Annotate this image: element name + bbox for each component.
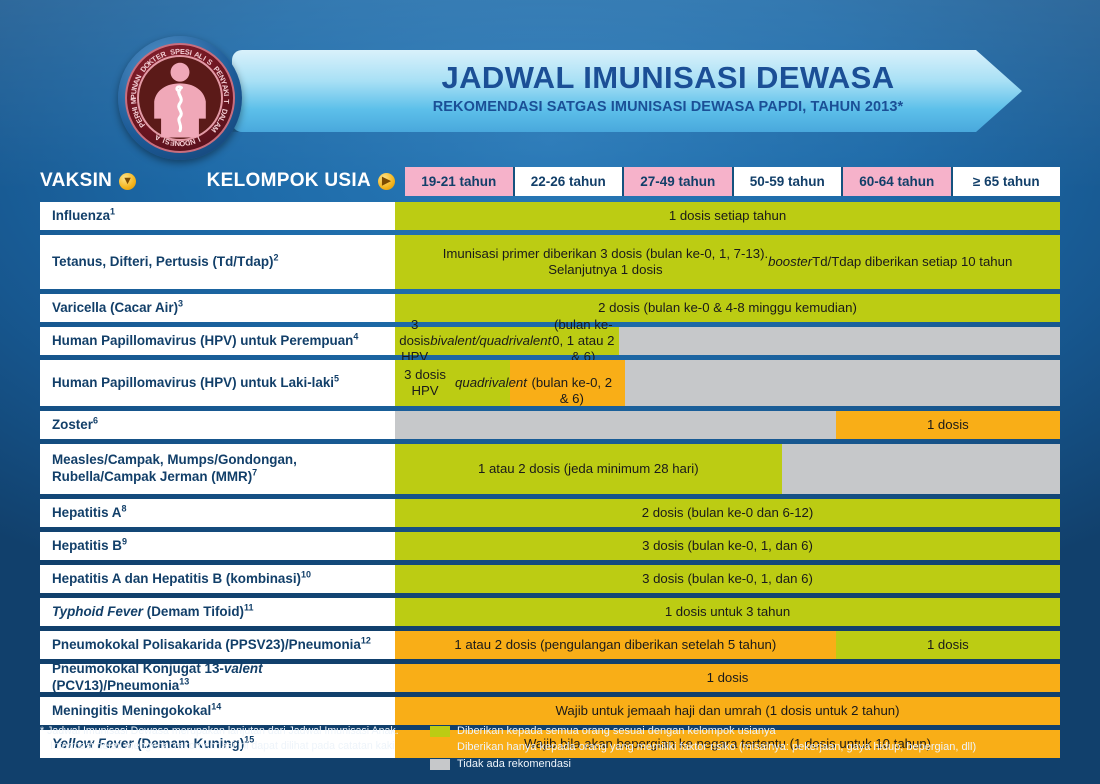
age-group-header-1[interactable]: 19-21 tahun [405,167,515,196]
schedule-bars: 1 atau 2 dosis (jeda minimum 28 hari) [395,444,1060,494]
legend: Diberikan kepada semua orang sesuai deng… [400,724,1060,773]
vaccine-name: Meningitis Meningokokal14 [40,697,395,725]
table-row: Zoster61 dosis [40,411,1060,439]
schedule-bars: 1 dosis untuk 3 tahun [395,598,1060,626]
vaccine-name: Typhoid Fever (Demam Tifoid)11 [40,598,395,626]
column-header-kelompok-usia: KELOMPOK USIA ▶ [190,170,405,192]
footnote-marker: 13 [179,677,189,687]
footnote-marker: 9 [122,536,127,546]
table-row: Hepatitis B93 dosis (bulan ke-0, 1, dan … [40,532,1060,560]
schedule-segment-gray[interactable] [782,444,1060,494]
schedule-segment-orange[interactable]: 1 atau 2 dosis (pengulangan diberikan se… [395,631,836,659]
table-row: Hepatitis A dan Hepatitis B (kombinasi)1… [40,565,1060,593]
vaccine-name: Human Papillomavirus (HPV) untuk Laki-la… [40,360,395,406]
vaccine-name: Pneumokokal Polisakarida (PPSV23)/Pneumo… [40,631,395,659]
schedule-bars: Imunisasi primer diberikan 3 dosis (bula… [395,235,1060,289]
footnote-marker: 6 [93,415,98,425]
schedule-segment-orange[interactable]: Wajib untuk jemaah haji dan umrah (1 dos… [395,697,1060,725]
vaccine-name: Tetanus, Difteri, Pertusis (Td/Tdap)2 [40,235,395,289]
footnote-line-1: * Jadwal Imunisasi Dewasa merupakan lanj… [40,724,400,739]
table-row: Tetanus, Difteri, Pertusis (Td/Tdap)2Imu… [40,235,1060,289]
schedule-bars: 3 dosis (bulan ke-0, 1, dan 6) [395,565,1060,593]
schedule-segment-gray[interactable] [395,411,836,439]
schedule-segment-green[interactable]: 1 dosis setiap tahun [395,202,1060,230]
footnote-marker: 1 [110,206,115,216]
table-row: Human Papillomavirus (HPV) untuk Perempu… [40,327,1060,355]
table-row: Hepatitis A82 dosis (bulan ke-0 dan 6-12… [40,499,1060,527]
footnote-marker: 11 [244,602,254,612]
footnote-marker: 8 [121,503,126,513]
table-row: Typhoid Fever (Demam Tifoid)111 dosis un… [40,598,1060,626]
papdi-logo: PERHIMPUNAN DOKTER SPESIALIS PENYAKIT DA… [118,36,242,160]
footnote-marker: 14 [211,701,221,711]
vaccine-name: Hepatitis B9 [40,532,395,560]
schedule-segment-label: 3 dosis HPV quadrivalent(bulan ke-0, 2 &… [395,360,617,406]
schedule-bars: 3 dosis HPV quadrivalent(bulan ke-0, 2 &… [395,360,1060,406]
arrow-right-icon: ▶ [378,173,395,190]
schedule-segment-gray[interactable] [619,327,1060,355]
schedule-segment-green[interactable]: 3 dosis (bulan ke-0, 1, dan 6) [395,532,1060,560]
kelompok-usia-label: KELOMPOK USIA [207,170,371,192]
age-group-header-3[interactable]: 27-49 tahun [624,167,734,196]
table-row: Influenza11 dosis setiap tahun [40,202,1060,230]
schedule-bars: 3 dosis (bulan ke-0, 1, dan 6) [395,532,1060,560]
legend-label: Diberikan hanya kepada orang yang memili… [457,740,976,754]
page-title: JADWAL IMUNISASI DEWASA [348,62,988,95]
table-row: Measles/Campak, Mumps/Gondongan,Rubella/… [40,444,1060,494]
column-header-vaksin: VAKSIN ▼ [40,170,190,192]
schedule-segment-green[interactable]: 1 dosis [836,631,1060,659]
vaccine-name: Human Papillomavirus (HPV) untuk Perempu… [40,327,395,355]
immunization-schedule-table: VAKSIN ▼ KELOMPOK USIA ▶ 19-21 tahun22-2… [40,166,1060,763]
schedule-bars: 1 dosis [395,411,1060,439]
logo-figure-icon [137,55,223,141]
schedule-segment-green[interactable]: 3 dosis HPV bivalent/quadrivalent (bulan… [395,327,619,355]
table-row: Varicella (Cacar Air)32 dosis (bulan ke-… [40,294,1060,322]
legend-item: Diberikan hanya kepada orang yang memili… [430,740,1060,754]
table-row: Meningitis Meningokokal14Wajib untuk jem… [40,697,1060,725]
schedule-segment-orange[interactable]: 1 dosis [395,664,1060,692]
age-group-header-4[interactable]: 50-59 tahun [734,167,844,196]
vaccine-name: Pneumokokal Konjugat 13-valent (PCV13)/P… [40,664,395,692]
schedule-bars: 3 dosis HPV bivalent/quadrivalent (bulan… [395,327,1060,355]
header-text-block: JADWAL IMUNISASI DEWASA REKOMENDASI SATG… [348,62,988,115]
table-row: Pneumokokal Polisakarida (PPSV23)/Pneumo… [40,631,1060,659]
schedule-segment-green[interactable]: 3 dosis (bulan ke-0, 1, dan 6) [395,565,1060,593]
age-group-header-2[interactable]: 22-26 tahun [515,167,625,196]
table-row: Human Papillomavirus (HPV) untuk Laki-la… [40,360,1060,406]
age-group-header-5[interactable]: 60-64 tahun [843,167,953,196]
legend-item: Diberikan kepada semua orang sesuai deng… [430,724,1060,738]
arrow-down-icon: ▼ [119,173,136,190]
legend-label: Diberikan kepada semua orang sesuai deng… [457,724,776,738]
footnote-block: * Jadwal Imunisasi Dewasa merupakan lanj… [40,724,400,773]
footnote-marker: 4 [353,331,358,341]
footnote-line-2: Informasi detail mengenai rekomendasi in… [40,739,400,754]
footnote-marker: 2 [273,252,278,262]
schedule-bars: 1 dosis [395,664,1060,692]
legend-swatch-orange [430,742,450,753]
legend-swatch-gray [430,759,450,770]
schedule-segment-orange[interactable]: 1 dosis [836,411,1060,439]
vaksin-label: VAKSIN [40,170,112,192]
schedule-bars: 2 dosis (bulan ke-0 dan 6-12) [395,499,1060,527]
vaccine-name: Hepatitis A8 [40,499,395,527]
schedule-segment-green[interactable]: 1 dosis untuk 3 tahun [395,598,1060,626]
schedule-bars: Wajib untuk jemaah haji dan umrah (1 dos… [395,697,1060,725]
vaccine-name: Influenza1 [40,202,395,230]
schedule-bars: 1 dosis setiap tahun [395,202,1060,230]
age-group-header-cells: 19-21 tahun22-26 tahun27-49 tahun50-59 t… [405,167,1060,196]
age-group-header-6[interactable]: ≥ 65 tahun [953,167,1061,196]
vaccine-name: Measles/Campak, Mumps/Gondongan,Rubella/… [40,444,395,494]
footnote-marker: 12 [361,635,371,645]
schedule-bars: 1 atau 2 dosis (pengulangan diberikan se… [395,631,1060,659]
footnote-marker: 7 [252,468,257,478]
schedule-bars: 2 dosis (bulan ke-0 & 4-8 minggu kemudia… [395,294,1060,322]
schedule-segment-gray[interactable] [625,360,1060,406]
vaccine-name: Zoster6 [40,411,395,439]
table-body: Influenza11 dosis setiap tahunTetanus, D… [40,202,1060,758]
table-row: Pneumokokal Konjugat 13-valent (PCV13)/P… [40,664,1060,692]
schedule-segment-green[interactable]: Imunisasi primer diberikan 3 dosis (bula… [395,235,1060,289]
footnote-marker: 3 [178,298,183,308]
vaccine-name: Varicella (Cacar Air)3 [40,294,395,322]
legend-swatch-green [430,726,450,737]
legend-label: Tidak ada rekomendasi [457,757,571,771]
footnote-marker: 5 [334,373,339,383]
schedule-segment-green[interactable]: 2 dosis (bulan ke-0 & 4-8 minggu kemudia… [395,294,1060,322]
schedule-segment-green[interactable]: 2 dosis (bulan ke-0 dan 6-12) [395,499,1060,527]
page-footer: * Jadwal Imunisasi Dewasa merupakan lanj… [40,724,1060,773]
schedule-segment-green[interactable]: 1 atau 2 dosis (jeda minimum 28 hari) [395,444,782,494]
legend-item: Tidak ada rekomendasi [430,757,1060,771]
page-header: JADWAL IMUNISASI DEWASA REKOMENDASI SATG… [0,14,1100,154]
table-header-row: VAKSIN ▼ KELOMPOK USIA ▶ 19-21 tahun22-2… [40,166,1060,196]
footnote-marker: 10 [301,569,311,579]
vaccine-name: Hepatitis A dan Hepatitis B (kombinasi)1… [40,565,395,593]
page-subtitle: REKOMENDASI SATGAS IMUNISASI DEWASA PAPD… [348,99,988,115]
